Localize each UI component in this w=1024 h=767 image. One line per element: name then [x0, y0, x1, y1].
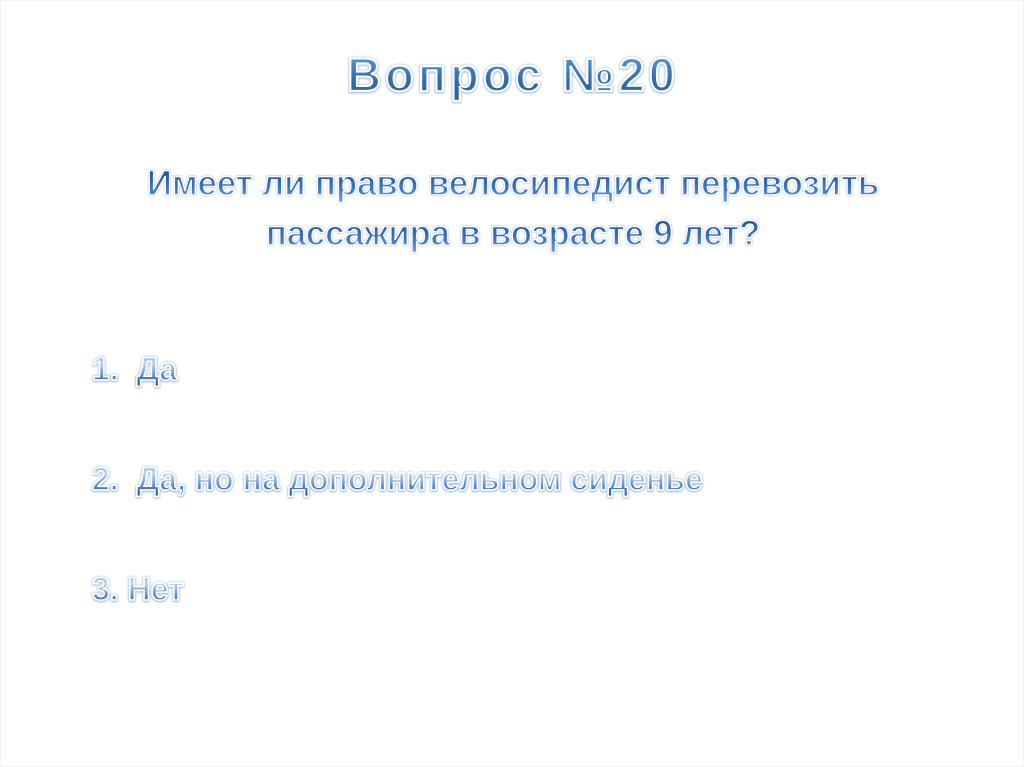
question-block: Имеет ли право велосипедист перевозить п… — [53, 159, 973, 260]
answer-option-3-text[interactable]: 3. Нет — [92, 573, 184, 607]
answer-option-1[interactable]: 1. Да — [92, 353, 972, 463]
answer-option-1-text[interactable]: 1. Да — [92, 353, 177, 387]
page-title: Вопрос №20 — [347, 47, 679, 102]
answer-options-list: 1. Да 2. Да, но на дополнительном сидень… — [92, 353, 972, 683]
answer-option-2[interactable]: 2. Да, но на дополнительном сиденье — [92, 463, 972, 573]
question-line-2: пассажира в возрасте 9 лет? — [55, 209, 970, 259]
slide-title: Вопрос №20 — [1, 47, 1024, 102]
question-line-1: Имеет ли право велосипедист перевозить — [53, 159, 973, 209]
answer-option-3[interactable]: 3. Нет — [92, 573, 972, 683]
slide-canvas: Вопрос №20 Имеет ли право велосипедист п… — [0, 0, 1024, 767]
answer-option-2-text[interactable]: 2. Да, но на дополнительном сиденье — [92, 463, 703, 497]
